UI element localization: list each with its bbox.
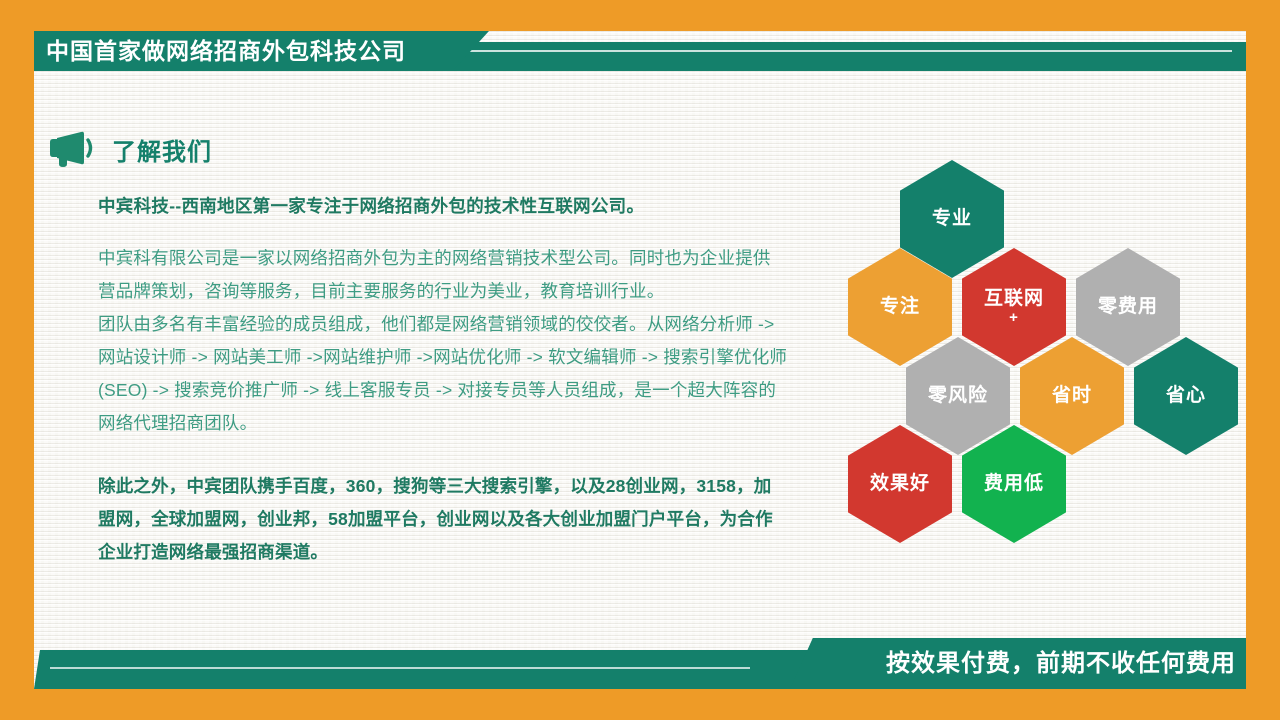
hexagon-label: 效果好 [870,473,930,495]
hexagon-8: 效果好 [848,425,952,543]
hexagon-3: 互联网+ [962,248,1066,366]
hexagon-sublabel: + [1009,310,1019,326]
section-title: 了解我们 [112,132,212,167]
body-content: 中宾科技--西南地区第一家专注于网络招商外包的技术性互联网公司。 中宾科有限公司… [98,192,788,569]
hexagon-label: 省心 [1166,385,1206,407]
hexagon-7: 省心 [1134,337,1238,455]
hexagon-6: 省时 [1020,337,1124,455]
megaphone-icon [48,130,94,168]
paragraph-1: 中宾科有限公司是一家以网络招商外包为主的网络营销技术型公司。同时也为企业提供营品… [98,242,788,308]
footer-text: 按效果付费，前期不收任何费用 [886,638,1236,689]
closing-paragraph: 除此之外，中宾团队携手百度，360，搜狗等三大搜索引擎，以及28创业网，3158… [98,470,788,569]
hexagon-label: 费用低 [984,473,1044,495]
hexagon-label: 专业 [932,208,972,230]
hexagon-label: 省时 [1052,385,1092,407]
hexagon-label: 零风险 [928,385,988,407]
hexagon-label: 零费用 [1098,296,1158,318]
hexagon-4: 零费用 [1076,248,1180,366]
hexagon-label: 互联网 [984,288,1044,310]
footer-divider-line [50,667,750,669]
section-heading: 了解我们 [48,130,212,168]
paragraph-2: 团队由多名有丰富经验的成员组成，他们都是网络营销领域的佼佼者。从网络分析师 ->… [98,308,788,440]
lead-paragraph: 中宾科技--西南地区第一家专注于网络招商外包的技术性互联网公司。 [98,192,788,220]
hexagon-label: 专注 [880,296,920,318]
hexagon-cluster: 专业专注互联网+零费用零风险省时省心效果好费用低 [838,160,1238,540]
slide: 中国首家做网络招商外包科技公司 了解我们 中宾科技--西南地区第一家专注于网络招… [0,0,1280,720]
header-title: 中国首家做网络招商外包科技公司 [46,31,406,71]
